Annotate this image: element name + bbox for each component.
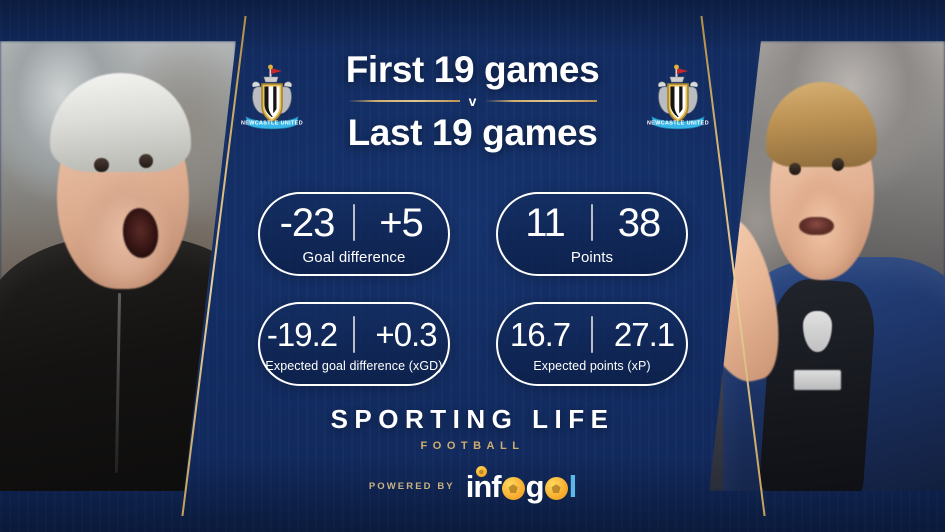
stat-label: Expected points (xP) [533, 359, 650, 373]
stats-grid: -23 +5 Goal difference 11 38 Points -19.… [258, 192, 688, 412]
headline-block: First 19 games v Last 19 games [0, 49, 945, 154]
stat-values: 11 38 [508, 203, 676, 243]
stat-first-value: 16.7 [498, 318, 582, 351]
stat-pill-points: 11 38 Points [496, 192, 688, 276]
stats-row-top: -23 +5 Goal difference 11 38 Points [258, 192, 688, 276]
stat-separator [353, 204, 355, 241]
stat-label: Goal difference [303, 249, 406, 266]
stat-pill-expected-points: 16.7 27.1 Expected points (xP) [496, 302, 688, 386]
sporting-life-wordmark: SPORTING LIFE [0, 404, 945, 435]
infogol-text-l: l [569, 471, 577, 502]
jacket-sponsor-text [794, 370, 841, 390]
infographic-canvas: NEWCASTLE UNITED NEWCASTLE UNITED [0, 0, 945, 532]
powered-by-label: POWERED BY [369, 481, 455, 492]
stat-separator [591, 316, 593, 353]
smiling-mouth [799, 217, 834, 235]
eye-left [789, 163, 801, 176]
footer-branding: SPORTING LIFE FOOTBALL POWERED BY inf g … [0, 404, 945, 502]
versus-divider: v [0, 93, 945, 109]
stat-separator [353, 316, 355, 353]
stat-first-value: -23 [270, 203, 344, 243]
stat-values: -23 +5 [270, 203, 438, 243]
stat-first-value: -19.2 [260, 318, 344, 351]
infogol-ball-icon-2 [545, 477, 568, 500]
powered-by-row: POWERED BY inf g l [0, 471, 945, 502]
eye-right [832, 158, 844, 171]
versus-label: v [469, 93, 477, 109]
stat-last-value: 38 [602, 203, 676, 243]
stat-last-value: +0.3 [364, 318, 448, 351]
stat-label: Expected goal difference (xGD) [265, 359, 442, 373]
divider-rule-left [348, 100, 460, 102]
stat-values: -19.2 +0.3 [260, 316, 448, 353]
headline-line-2: Last 19 games [0, 112, 945, 153]
stats-row-bottom: -19.2 +0.3 Expected goal difference (xGD… [258, 302, 688, 386]
infogol-logo: inf g l [466, 471, 576, 502]
stat-last-value: 27.1 [602, 318, 686, 351]
stat-last-value: +5 [364, 203, 438, 243]
stat-separator [591, 204, 593, 241]
stat-label: Points [571, 249, 613, 266]
infogol-accent-ball-icon [476, 466, 487, 477]
headline-line-1: First 19 games [0, 49, 945, 90]
stat-pill-expected-goal-difference: -19.2 +0.3 Expected goal difference (xGD… [258, 302, 450, 386]
divider-rule-right [485, 100, 597, 102]
stat-pill-goal-difference: -23 +5 Goal difference [258, 192, 450, 276]
infogol-ball-icon-1 [502, 477, 525, 500]
sporting-life-subbrand: FOOTBALL [0, 440, 945, 452]
eye-left [94, 158, 108, 172]
stat-values: 16.7 27.1 [498, 316, 686, 353]
infogol-text-g: g [526, 471, 544, 502]
stat-first-value: 11 [508, 203, 582, 243]
